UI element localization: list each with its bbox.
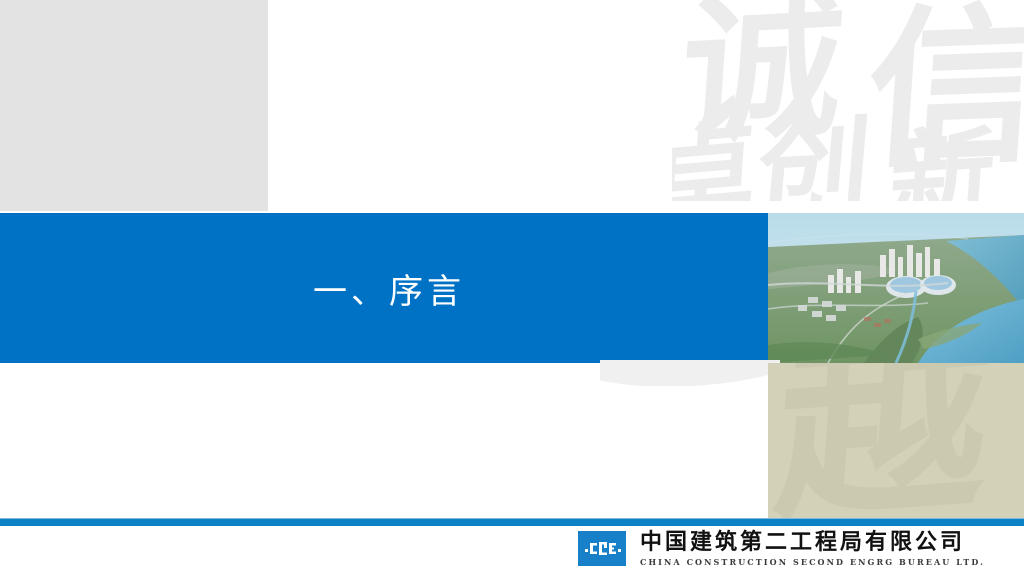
- swoosh-decor: [600, 360, 780, 386]
- cscec-logo-icon: [578, 531, 626, 566]
- company-name-en: CHINA CONSTRUCTION SECOND ENGRG BUREAU L…: [640, 557, 985, 567]
- watermark-char-xin: 信: [862, 0, 1024, 177]
- watermark-char-zhuo: 卓: [672, 117, 760, 201]
- watermark-char-chuang: 创: [753, 113, 876, 201]
- company-logo-lockup: 中国建筑第二工程局有限公司 CHINA CONSTRUCTION SECOND …: [578, 531, 985, 567]
- section-title-band: 一、序言: [0, 213, 768, 363]
- footer-divider-rule: [0, 518, 1024, 526]
- company-name-block: 中国建筑第二工程局有限公司 CHINA CONSTRUCTION SECOND …: [640, 531, 985, 567]
- calligraphy-watermark: 诚 信 卓 创 新: [672, 0, 1024, 201]
- page-title: 一、序言: [0, 213, 768, 363]
- watermark-char-cheng: 诚: [676, 0, 848, 152]
- slide-canvas: 诚 信 卓 创 新 一、序言: [0, 0, 1024, 576]
- aerial-city-photo: [768, 213, 1024, 363]
- beige-watermark-char: 越: [770, 363, 996, 525]
- gray-decor-block: [0, 0, 268, 211]
- beige-decor-block: 越: [768, 363, 1024, 525]
- watermark-char-xin-new: 新: [886, 122, 998, 201]
- company-name-cn: 中国建筑第二工程局有限公司: [640, 531, 985, 554]
